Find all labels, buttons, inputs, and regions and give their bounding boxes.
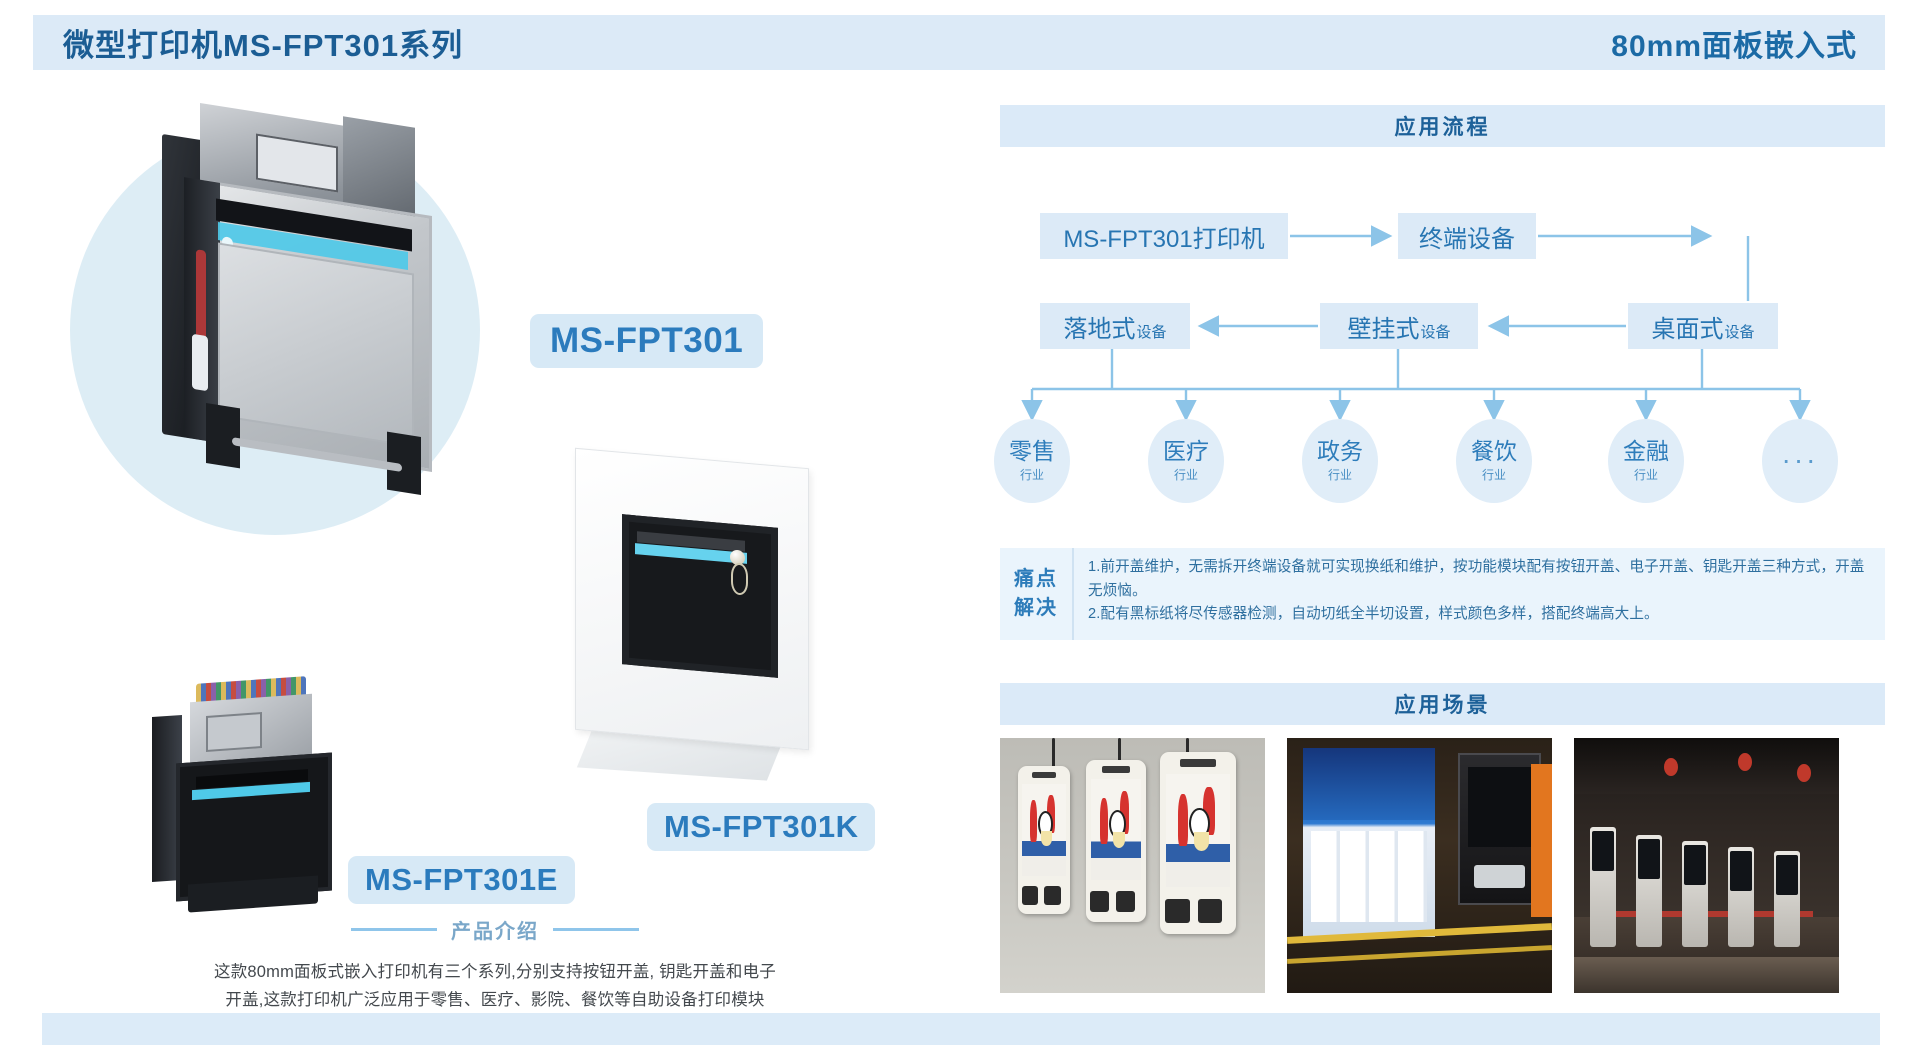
left-column: MS-FPT301 MS-FPT301E MS-FPT301K bbox=[30, 90, 960, 1000]
flow-node-desk-main: 桌面式 bbox=[1651, 309, 1723, 344]
flow-node-floor-standing: 落地式 设备 bbox=[1040, 303, 1190, 349]
product-intro-line-2: 开盖,这款打印机广泛应用于零售、医疗、影院、餐饮等自助设备打印模块 bbox=[30, 986, 960, 1014]
pain-points-panel: 痛点 解决 1.前开盖维护，无需拆开终端设备就可实现换纸和维护，按功能模块配有按… bbox=[1000, 548, 1885, 640]
printer-k-image bbox=[575, 458, 835, 788]
product-intro-heading: 产品介绍 bbox=[30, 915, 960, 944]
right-column: 应用流程 bbox=[1000, 105, 1885, 501]
footer-bar bbox=[42, 1013, 1880, 1045]
industry-bubble-catering: 餐饮 行业 bbox=[1456, 419, 1532, 503]
header-subtitle: 80mm面板嵌入式 bbox=[1611, 21, 1857, 65]
scene-photo-self-service-terminal bbox=[1287, 738, 1552, 993]
flow-node-floor-main: 落地式 bbox=[1063, 309, 1135, 344]
product-label-ms-fpt301e: MS-FPT301E bbox=[348, 856, 575, 904]
scenes-section-title: 应用场景 bbox=[1395, 689, 1491, 719]
industry-bubble-medical: 医疗 行业 bbox=[1148, 419, 1224, 503]
pain-tag-line-1: 痛点 bbox=[1014, 565, 1058, 594]
flow-node-terminal: 终端设备 bbox=[1398, 213, 1536, 259]
industry-sub: 行业 bbox=[1482, 466, 1506, 483]
industry-name: 政务 bbox=[1317, 439, 1363, 463]
scene-photo-wall-kiosks bbox=[1000, 738, 1265, 993]
printer-e-image bbox=[138, 680, 338, 915]
key-ring-icon bbox=[731, 562, 748, 595]
industry-sub: 行业 bbox=[1634, 466, 1658, 483]
flow-node-desk-sub: 设备 bbox=[1724, 321, 1754, 342]
industry-name: 餐饮 bbox=[1471, 439, 1517, 463]
industry-bubble-retail: 零售 行业 bbox=[994, 419, 1070, 503]
product-label-ms-fpt301k: MS-FPT301K bbox=[647, 803, 875, 851]
flow-node-printer: MS-FPT301打印机 bbox=[1040, 213, 1288, 259]
pain-points-body: 1.前开盖维护，无需拆开终端设备就可实现换纸和维护，按功能模块配有按钮开盖、电子… bbox=[1074, 548, 1885, 640]
printer-main-image bbox=[148, 120, 428, 520]
flow-section-title: 应用流程 bbox=[1395, 111, 1491, 141]
pain-points-tag: 痛点 解决 bbox=[1000, 548, 1074, 640]
pain-point-item-2: 2.配有黑标纸将尽传感器检测，自动切纸全半切设置，样式颜色多样，搭配终端高大上。 bbox=[1088, 603, 1869, 627]
flow-node-wall-sub: 设备 bbox=[1420, 321, 1450, 342]
application-flow-diagram: MS-FPT301打印机 终端设备 落地式 设备 壁挂式 设备 桌面式 设备 零… bbox=[1000, 151, 1885, 501]
divider-left bbox=[351, 928, 437, 931]
poster-page: 微型打印机MS-FPT301系列 80mm面板嵌入式 MS-FPT3 bbox=[0, 0, 1920, 1057]
product-intro: 产品介绍 这款80mm面板式嵌入打印机有三个系列,分别支持按钮开盖, 钥匙开盖和… bbox=[30, 915, 960, 1015]
scene-photo-retail-store bbox=[1574, 738, 1839, 993]
industry-name: 医疗 bbox=[1163, 439, 1209, 463]
industry-sub: 行业 bbox=[1174, 466, 1198, 483]
industry-bubble-more: ··· bbox=[1762, 419, 1838, 503]
industry-name: 金融 bbox=[1623, 439, 1669, 463]
flow-section-band: 应用流程 bbox=[1000, 105, 1885, 147]
flow-node-floor-sub: 设备 bbox=[1136, 321, 1166, 342]
product-intro-text: 这款80mm面板式嵌入打印机有三个系列,分别支持按钮开盖, 钥匙开盖和电子 开盖… bbox=[30, 958, 960, 1015]
product-intro-title: 产品介绍 bbox=[451, 915, 539, 944]
flow-node-wall-main: 壁挂式 bbox=[1347, 309, 1419, 344]
flow-node-desktop: 桌面式 设备 bbox=[1628, 303, 1778, 349]
pain-point-item-1: 1.前开盖维护，无需拆开终端设备就可实现换纸和维护，按功能模块配有按钮开盖、电子… bbox=[1088, 556, 1869, 603]
scenes-section-band: 应用场景 bbox=[1000, 683, 1885, 725]
industry-name: ··· bbox=[1782, 445, 1819, 474]
divider-right bbox=[553, 928, 639, 931]
flow-node-wall-mounted: 壁挂式 设备 bbox=[1320, 303, 1478, 349]
industry-bubble-finance: 金融 行业 bbox=[1608, 419, 1684, 503]
application-scenes-gallery bbox=[1000, 738, 1885, 993]
industry-sub: 行业 bbox=[1020, 466, 1044, 483]
pain-tag-line-2: 解决 bbox=[1014, 594, 1058, 623]
header-bar: 微型打印机MS-FPT301系列 80mm面板嵌入式 bbox=[33, 15, 1885, 70]
product-label-ms-fpt301: MS-FPT301 bbox=[530, 314, 763, 368]
page-title: 微型打印机MS-FPT301系列 bbox=[63, 20, 463, 65]
product-intro-line-1: 这款80mm面板式嵌入打印机有三个系列,分别支持按钮开盖, 钥匙开盖和电子 bbox=[30, 958, 960, 986]
industry-name: 零售 bbox=[1009, 439, 1055, 463]
industry-sub: 行业 bbox=[1328, 466, 1352, 483]
industry-bubble-government: 政务 行业 bbox=[1302, 419, 1378, 503]
